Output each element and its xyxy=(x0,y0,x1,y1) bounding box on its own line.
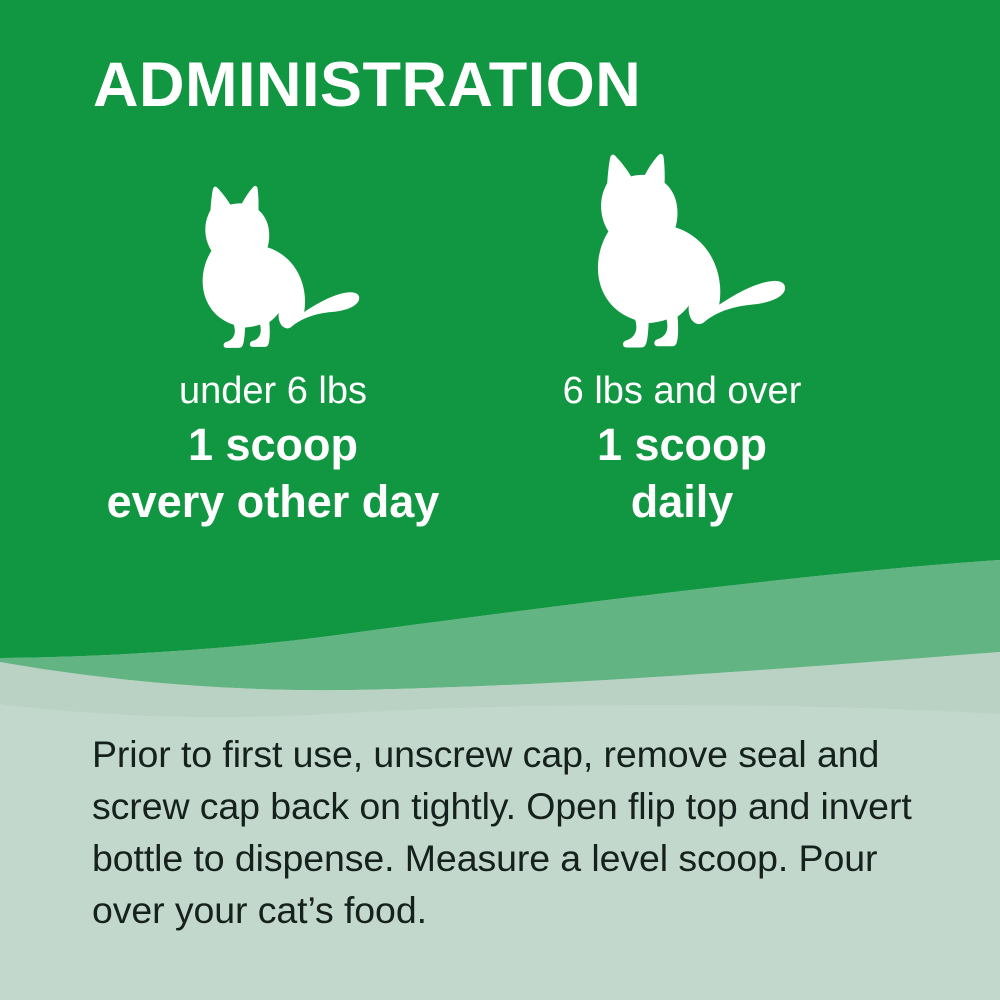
dosage-amount-label: 1 scoop xyxy=(597,417,767,474)
dosage-frequency-label: daily xyxy=(631,474,734,531)
dosage-row: under 6 lbs 1 scoop every other day 6 lb… xyxy=(0,150,1000,540)
dosage-column-6lbs-and-over: 6 lbs and over 1 scoop daily xyxy=(500,150,1000,540)
page-title: ADMINISTRATION xyxy=(93,52,641,118)
dosage-weight-label: under 6 lbs xyxy=(179,371,367,412)
instructions-block: Prior to first use, unscrew cap, remove … xyxy=(92,728,938,936)
cat-silhouette-large-icon xyxy=(553,154,811,350)
cat-figure-small xyxy=(175,150,371,350)
cat-figure-large xyxy=(553,150,811,350)
dosage-weight-label: 6 lbs and over xyxy=(563,371,802,412)
dosage-frequency-label: every other day xyxy=(107,474,440,531)
administration-panel: ADMINISTRATION under 6 lbs 1 scoop every… xyxy=(0,0,1000,1000)
instructions-text: Prior to first use, unscrew cap, remove … xyxy=(92,728,938,936)
dosage-column-under-6lbs: under 6 lbs 1 scoop every other day xyxy=(0,150,500,540)
wave-green-pale xyxy=(0,652,1000,717)
dosage-amount-label: 1 scoop xyxy=(188,417,358,474)
cat-silhouette-small-icon xyxy=(175,186,371,350)
